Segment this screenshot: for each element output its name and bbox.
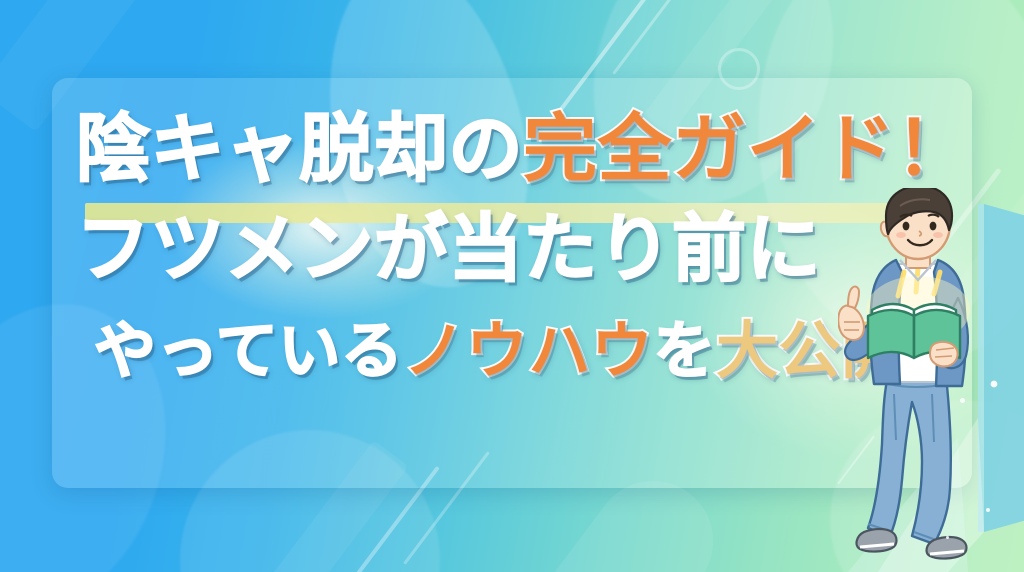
thumbs-up-hand [838,287,864,340]
headline-line1-segment-2: 完全ガイド！ [523,112,970,186]
right-hand [930,342,958,366]
sparkle [960,398,965,403]
eye-left [903,222,910,231]
headline-line1-segment-1: 陰キャ脱却の [76,112,523,186]
eye-right [930,222,937,231]
banner-canvas: 陰キャ脱却の完全ガイド！ フツメンが当たり前に やっているノウハウを大公開！ [0,0,1024,572]
head [881,188,952,259]
headline-line2-segment-1: フツメンが当たり前に [76,212,821,286]
headline-line-3: やっているノウハウを大公開！ [76,320,966,406]
headline: 陰キャ脱却の完全ガイド！ フツメンが当たり前に やっているノウハウを大公開！ [76,112,966,406]
headline-line3-segment-3: を [653,320,716,382]
headline-line-1: 陰キャ脱却の完全ガイド！ [76,112,966,212]
sparkle [946,536,949,539]
sparkle [986,508,990,512]
background-streak [612,0,687,75]
door-shape [978,204,1024,532]
headline-line-2: フツメンが当たり前に [76,212,966,320]
character-illustration [838,188,1024,572]
headline-line3-segment-2: ノウハウ [403,320,653,382]
headline-line3-segment-1: やっている [94,320,403,382]
character-illustration-svg [838,188,1024,572]
